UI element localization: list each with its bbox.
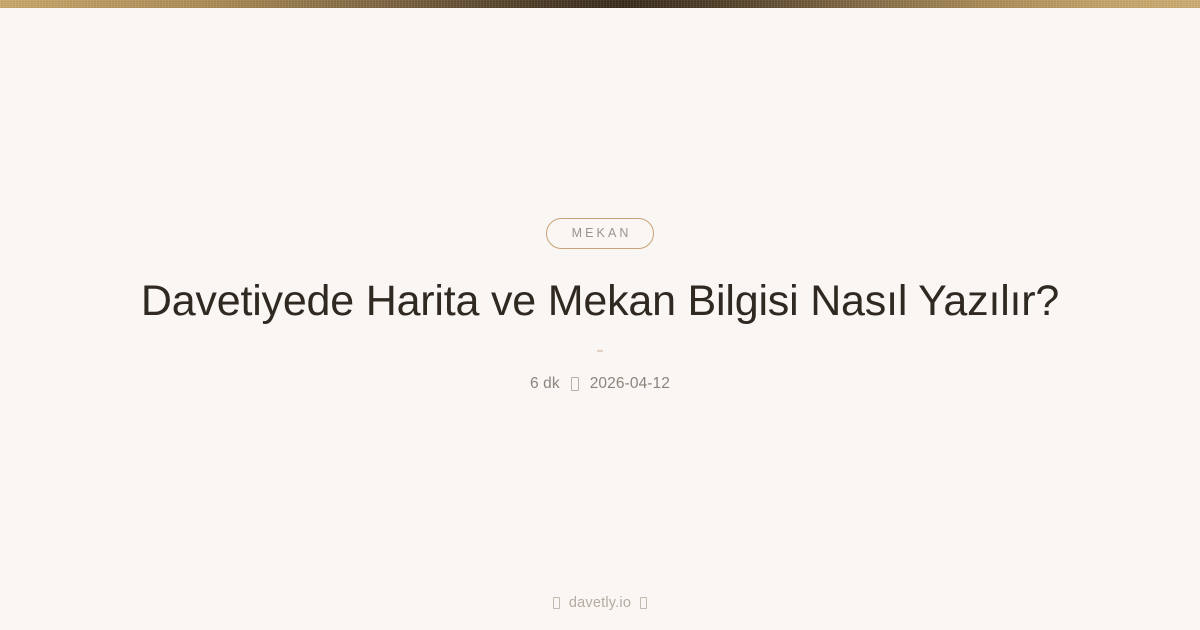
- site-name-label: davetly.io: [569, 596, 631, 611]
- meta-separator-icon: [571, 377, 579, 391]
- category-badge[interactable]: MEKAN: [546, 218, 653, 249]
- page-title: Davetiyede Harita ve Mekan Bilgisi Nasıl…: [141, 277, 1059, 326]
- card-content: MEKAN Davetiyede Harita ve Mekan Bilgisi…: [0, 8, 1200, 630]
- og-share-card: MEKAN Davetiyede Harita ve Mekan Bilgisi…: [0, 0, 1200, 630]
- footer-left-glyph-icon: [553, 597, 560, 609]
- top-accent-bar: [0, 0, 1200, 8]
- read-time-label: 6 dk: [530, 376, 560, 392]
- article-meta: 6 dk 2026-04-12: [530, 376, 670, 392]
- publish-date-label: 2026-04-12: [590, 376, 670, 392]
- footer: davetly.io: [0, 596, 1200, 611]
- title-divider: [597, 350, 603, 352]
- top-accent-bar-texture: [0, 0, 1200, 8]
- footer-right-glyph-icon: [640, 597, 647, 609]
